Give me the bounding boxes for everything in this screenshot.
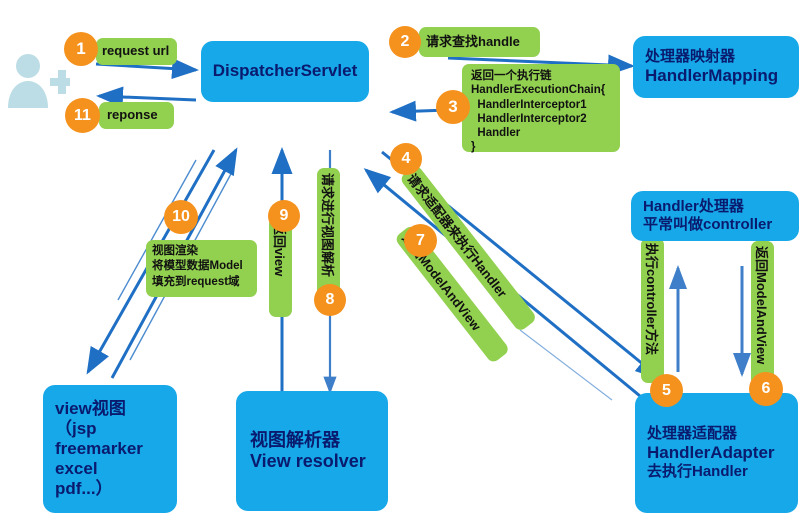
step-circle-1[interactable]: 1 [64, 32, 98, 66]
view-box[interactable]: view视图 （jsp freemarker excel pdf...） [43, 385, 177, 513]
step-circle-5[interactable]: 5 [650, 374, 683, 407]
step-circle-7-num: 7 [416, 232, 425, 250]
step-circle-11[interactable]: 11 [65, 98, 100, 133]
step-circle-10[interactable]: 10 [164, 200, 198, 234]
step-9-label-chip: 返回view [269, 217, 292, 317]
step-10-line-2: 将模型数据Model [152, 259, 257, 274]
step-circle-1-num: 1 [76, 39, 85, 59]
step-circle-7[interactable]: 7 [404, 224, 437, 257]
step-2-label: 请求查找handle [426, 34, 520, 50]
view-resolver-en: View resolver [250, 451, 388, 472]
step-11-label: reponse [107, 107, 158, 123]
view-resolver-box[interactable]: 视图解析器 View resolver [236, 391, 388, 511]
handler-controller-box[interactable]: Handler处理器 平常叫做controller [631, 191, 799, 241]
step-3-line-1: 返回一个执行链 [471, 69, 620, 83]
step-1-label-chip: request url [96, 38, 177, 65]
step-10-line-3: 填充到request域 [152, 275, 257, 290]
step-circle-3-num: 3 [448, 97, 457, 117]
step-6-label: 返回ModelAndView [753, 246, 772, 364]
step-3-line-6: } [471, 140, 620, 154]
step-circle-10-num: 10 [172, 208, 190, 226]
step-circle-8[interactable]: 8 [314, 284, 346, 316]
step-circle-9[interactable]: 9 [268, 200, 300, 232]
step-circle-4-num: 4 [402, 150, 411, 168]
step-circle-4[interactable]: 4 [390, 143, 422, 175]
step-3-label-chip: 返回一个执行链 HandlerExecutionChain{ HandlerIn… [462, 64, 620, 152]
view-line3: freemarker [55, 439, 177, 459]
step-circle-2-num: 2 [401, 33, 410, 51]
view-resolver-cn: 视图解析器 [250, 430, 388, 451]
view-line5: pdf...） [55, 479, 177, 499]
view-line2: （jsp [55, 419, 177, 439]
handler-mapping-box[interactable]: 处理器映射器 HandlerMapping [633, 36, 799, 98]
step-circle-6-num: 6 [762, 380, 771, 398]
step-5-label-chip: 执行controller方法 [641, 238, 664, 383]
step-circle-6[interactable]: 6 [749, 372, 783, 406]
handler-line1: Handler处理器 [643, 198, 799, 216]
step-3-line-4: HandlerInterceptor2 [471, 112, 620, 126]
step-6-label-chip: 返回ModelAndView [751, 241, 774, 386]
step-2-label-chip: 请求查找handle [419, 27, 540, 57]
step-3-line-5: Handler [471, 126, 620, 140]
handler-adapter-line2: HandlerAdapter [647, 443, 798, 463]
handler-mapping-cn: 处理器映射器 [645, 48, 799, 66]
handler-adapter-box[interactable]: 处理器适配器 HandlerAdapter 去执行Handler [635, 393, 798, 513]
step-1-label: request url [102, 43, 169, 59]
diagram-canvas: DispatcherServlet 处理器映射器 HandlerMapping … [0, 0, 812, 524]
dispatcher-servlet-box[interactable]: DispatcherServlet [201, 41, 369, 102]
add-user-icon [4, 50, 70, 112]
step-circle-9-num: 9 [280, 207, 289, 225]
step-8-label: 请求进行视图解析 [319, 173, 338, 277]
step-10-label-chip: 视图渲染 将模型数据Model 填充到request域 [146, 240, 257, 297]
step-3-line-3: HandlerInterceptor1 [471, 98, 620, 112]
view-line1: view视图 [55, 399, 177, 419]
step-circle-2[interactable]: 2 [389, 26, 421, 58]
view-line4: excel [55, 459, 177, 479]
dispatcher-servlet-label: DispatcherServlet [213, 61, 358, 81]
step-circle-5-num: 5 [662, 382, 671, 400]
handler-adapter-line1: 处理器适配器 [647, 425, 798, 443]
step-11-label-chip: reponse [99, 102, 174, 129]
step-5-label: 执行controller方法 [643, 243, 662, 355]
handler-mapping-en: HandlerMapping [645, 66, 799, 86]
handler-adapter-line3: 去执行Handler [647, 463, 798, 481]
step-10-line-1: 视图渲染 [152, 244, 257, 259]
step-3-line-2: HandlerExecutionChain{ [471, 83, 620, 97]
handler-line2: 平常叫做controller [643, 216, 799, 234]
step-circle-8-num: 8 [326, 291, 335, 309]
step-circle-11-num: 11 [74, 107, 91, 125]
step-circle-3[interactable]: 3 [436, 90, 470, 124]
